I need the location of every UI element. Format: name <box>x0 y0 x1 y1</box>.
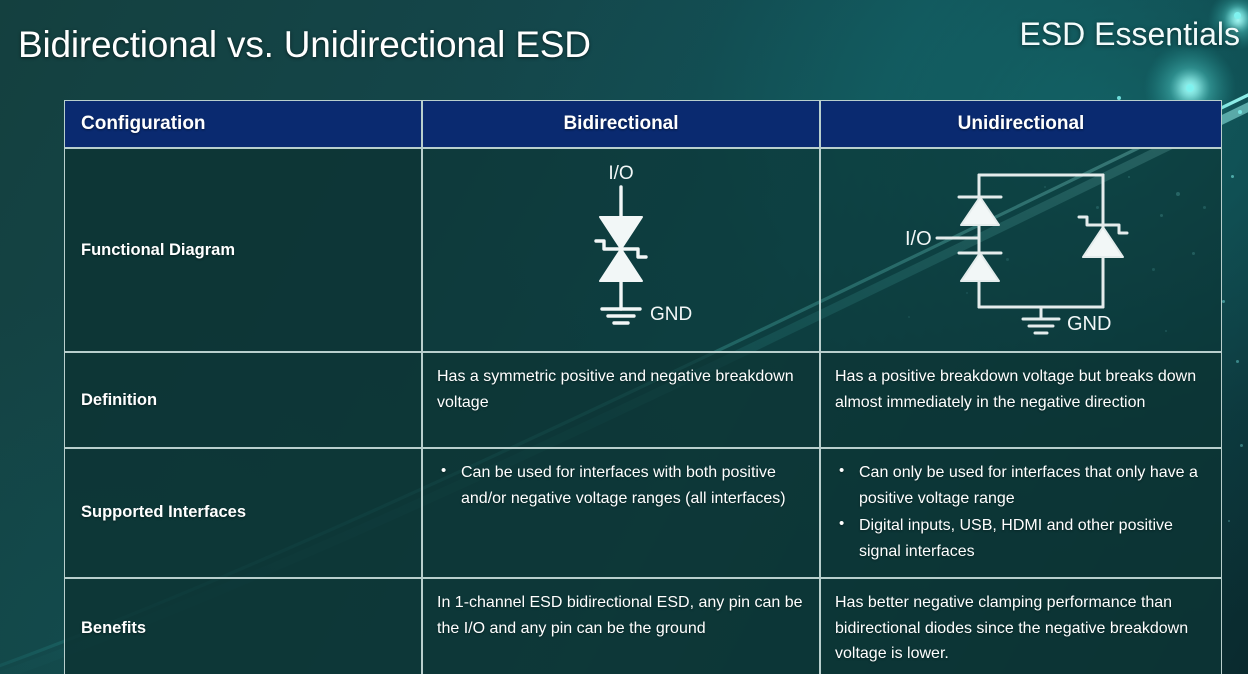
table-row-functional-diagram: Functional Diagram I/O <box>64 148 1222 352</box>
svg-text:I/O: I/O <box>905 228 932 250</box>
page-title: Bidirectional vs. Unidirectional ESD <box>18 24 591 66</box>
cell-definition-bidirectional: Has a symmetric positive and negative br… <box>422 352 820 448</box>
svg-text:I/O: I/O <box>608 163 633 184</box>
row-label-definition: Definition <box>64 352 422 448</box>
cell-benefits-bidirectional: In 1-channel ESD bidirectional ESD, any … <box>422 578 820 674</box>
list-item: Can only be used for interfaces that onl… <box>835 460 1207 512</box>
unidirectional-steering-diode-zener-icon: I/O <box>891 159 1151 341</box>
row-label-benefits: Benefits <box>64 578 422 674</box>
row-label-functional-diagram: Functional Diagram <box>64 148 422 352</box>
table-row-supported-interfaces: Supported Interfaces Can be used for int… <box>64 448 1222 578</box>
slide-series-label: ESD Essentials <box>1019 16 1240 53</box>
column-header-configuration: Configuration <box>64 100 422 148</box>
slide-canvas: Bidirectional vs. Unidirectional ESD ESD… <box>0 0 1248 674</box>
table-row-definition: Definition Has a symmetric positive and … <box>64 352 1222 448</box>
bullet-list-bidirectional: Can be used for interfaces with both pos… <box>437 460 805 512</box>
slide-header: Bidirectional vs. Unidirectional ESD ESD… <box>0 0 1248 92</box>
row-label-supported-interfaces: Supported Interfaces <box>64 448 422 578</box>
cell-bidirectional-diagram: I/O <box>422 148 820 352</box>
column-header-unidirectional: Unidirectional <box>820 100 1222 148</box>
cell-definition-unidirectional: Has a positive breakdown voltage but bre… <box>820 352 1222 448</box>
bullet-list-unidirectional: Can only be used for interfaces that onl… <box>835 460 1207 565</box>
svg-text:GND: GND <box>650 304 692 325</box>
column-header-bidirectional: Bidirectional <box>422 100 820 148</box>
table-row-benefits: Benefits In 1-channel ESD bidirectional … <box>64 578 1222 674</box>
comparison-table: Configuration Bidirectional Unidirection… <box>64 100 1222 674</box>
cell-unidirectional-diagram: I/O <box>820 148 1222 352</box>
table-header-row: Configuration Bidirectional Unidirection… <box>64 100 1222 148</box>
svg-text:GND: GND <box>1067 313 1111 335</box>
cell-supported-interfaces-bidirectional: Can be used for interfaces with both pos… <box>422 448 820 578</box>
cell-benefits-unidirectional: Has better negative clamping performance… <box>820 578 1222 674</box>
cell-supported-interfaces-unidirectional: Can only be used for interfaces that onl… <box>820 448 1222 578</box>
bidirectional-tvs-diode-icon: I/O <box>526 157 716 343</box>
list-item: Digital inputs, USB, HDMI and other posi… <box>835 513 1207 565</box>
list-item: Can be used for interfaces with both pos… <box>437 460 805 512</box>
